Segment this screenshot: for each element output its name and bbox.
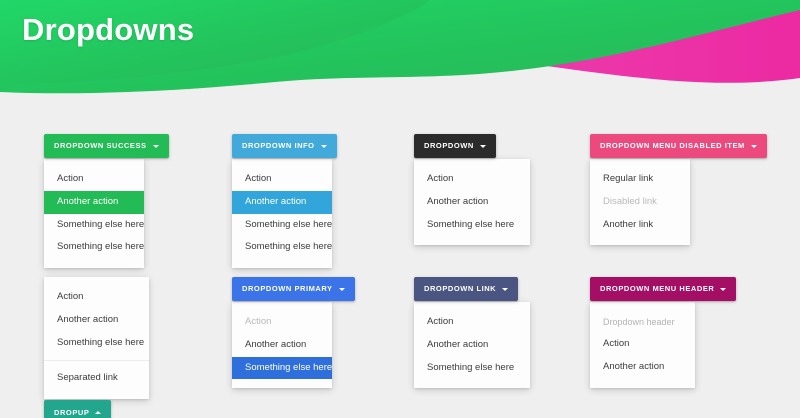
dropup-button[interactable]: Dropup: [44, 400, 111, 418]
menu-item[interactable]: Regular link: [590, 168, 690, 191]
menu-item[interactable]: Another action: [414, 191, 530, 214]
menu-item[interactable]: Action: [590, 333, 695, 356]
dropdown-link-menu: Action Another action Something else her…: [414, 302, 530, 388]
caret-down-icon: [751, 145, 757, 148]
menu-item[interactable]: Another action: [44, 309, 149, 332]
dropdown-default: Dropdown Action Another action Something…: [414, 134, 530, 245]
menu-item[interactable]: Another action: [44, 191, 144, 214]
header-banner: Dropdowns: [0, 0, 800, 108]
dropdown-grid: Dropdown Success Action Another action S…: [0, 108, 800, 418]
dropdown-menu-header-button-label: Dropdown Menu Header: [600, 285, 714, 293]
menu-item[interactable]: Something else here: [232, 357, 332, 380]
dropdown-disabled-item: Dropdown Menu Disabled Item Regular link…: [590, 134, 767, 245]
dropdown-default-menu: Action Another action Something else her…: [414, 159, 530, 245]
menu-item-disabled: Disabled link: [590, 191, 690, 214]
dropdown-disabled-item-button[interactable]: Dropdown Menu Disabled Item: [590, 134, 767, 158]
menu-item[interactable]: Another action: [232, 334, 332, 357]
menu-header-label: Dropdown header: [590, 311, 695, 333]
menu-item[interactable]: Action: [232, 168, 332, 191]
dropdown-menu-header-button[interactable]: Dropdown Menu Header: [590, 277, 736, 301]
menu-item[interactable]: Something else here: [414, 214, 530, 237]
dropdown-info-button-label: Dropdown Info: [242, 142, 315, 150]
page-title: Dropdowns: [22, 12, 194, 48]
menu-item[interactable]: Action: [414, 311, 530, 334]
dropdown-default-button[interactable]: Dropdown: [414, 134, 496, 158]
dropdown-info-button[interactable]: Dropdown Info: [232, 134, 337, 158]
menu-item-disabled: Action: [232, 311, 332, 334]
dropdown-primary-button-label: Dropdown Primary: [242, 285, 333, 293]
menu-item[interactable]: Action: [44, 286, 149, 309]
dropup-menu: Action Another action Something else her…: [44, 277, 149, 399]
dropdown-disabled-item-menu: Regular link Disabled link Another link: [590, 159, 690, 245]
dropdown-info: Dropdown Info Action Another action Some…: [232, 134, 337, 268]
menu-item[interactable]: Action: [44, 168, 144, 191]
page-root: Dropdowns Dropdown Success Action Anothe…: [0, 0, 800, 418]
dropdown-primary-button[interactable]: Dropdown Primary: [232, 277, 355, 301]
dropdown-success-button-label: Dropdown Success: [54, 142, 147, 150]
menu-item[interactable]: Another action: [590, 356, 695, 379]
caret-down-icon: [153, 145, 159, 148]
dropdown-link: Dropdown Link Action Another action Some…: [414, 277, 530, 388]
menu-item[interactable]: Something else here: [232, 236, 332, 259]
caret-down-icon: [502, 288, 508, 291]
menu-item[interactable]: Separated link: [44, 367, 149, 390]
dropdown-success-button[interactable]: Dropdown Success: [44, 134, 169, 158]
dropup-button-label: Dropup: [54, 409, 89, 417]
caret-down-icon: [480, 145, 486, 148]
dropdown-link-button-label: Dropdown Link: [424, 285, 496, 293]
dropdown-info-menu: Action Another action Something else her…: [232, 159, 332, 268]
menu-item[interactable]: Something else here: [44, 332, 149, 355]
dropup: Action Another action Something else her…: [44, 277, 149, 418]
menu-item[interactable]: Action: [414, 168, 530, 191]
menu-item[interactable]: Another action: [232, 191, 332, 214]
menu-divider: [44, 360, 149, 361]
dropdown-default-button-label: Dropdown: [424, 142, 474, 150]
menu-item[interactable]: Something else here: [44, 214, 144, 237]
dropdown-menu-header: Dropdown Menu Header Dropdown header Act…: [590, 277, 736, 388]
dropdown-success-menu: Action Another action Something else her…: [44, 159, 144, 268]
dropdown-primary: Dropdown Primary Action Another action S…: [232, 277, 355, 388]
menu-item[interactable]: Something else here: [232, 214, 332, 237]
caret-down-icon: [321, 145, 327, 148]
menu-item[interactable]: Something else here: [44, 236, 144, 259]
caret-up-icon: [95, 411, 101, 414]
dropdown-primary-menu: Action Another action Something else her…: [232, 302, 332, 388]
dropdown-disabled-item-button-label: Dropdown Menu Disabled Item: [600, 142, 745, 150]
dropdown-menu-header-menu: Dropdown header Action Another action: [590, 302, 695, 388]
dropdown-success: Dropdown Success Action Another action S…: [44, 134, 169, 268]
dropdown-link-button[interactable]: Dropdown Link: [414, 277, 518, 301]
menu-item[interactable]: Another action: [414, 334, 530, 357]
caret-down-icon: [720, 288, 726, 291]
caret-down-icon: [339, 288, 345, 291]
menu-item[interactable]: Something else here: [414, 357, 530, 380]
menu-item[interactable]: Another link: [590, 214, 690, 237]
